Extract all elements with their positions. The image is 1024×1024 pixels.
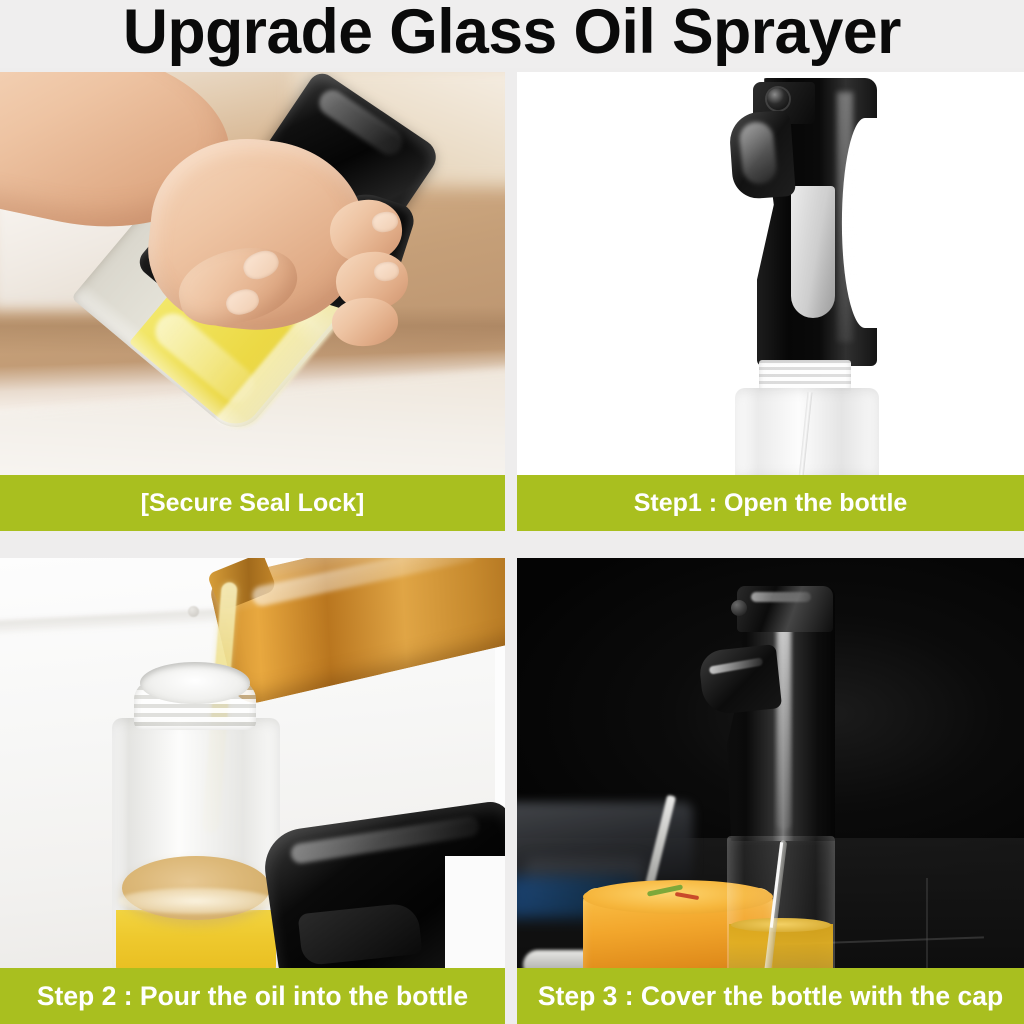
oil-surface <box>731 918 831 932</box>
caption-text: Step 2 : Pour the oil into the bottle <box>37 981 468 1012</box>
nozzle-ring <box>767 88 789 110</box>
caption-bar-step-1: Step1 : Open the bottle <box>517 475 1024 531</box>
caption-text: Step 3 : Cover the bottle with the cap <box>538 981 1003 1012</box>
caption-bar-step-2: Step 2 : Pour the oil into the bottle <box>0 968 505 1024</box>
panel-step-3: Step 3 : Cover the bottle with the cap <box>517 558 1024 1024</box>
sprayer-head-gloss <box>837 92 853 342</box>
page-title: Upgrade Glass Oil Sprayer <box>0 0 1024 68</box>
tile-grout-line <box>926 878 928 968</box>
caption-bar-secure-seal-lock: [Secure Seal Lock] <box>0 475 505 531</box>
bottle-mouth-opening <box>140 662 250 704</box>
photo-hand-holding-sprayer <box>0 72 505 475</box>
caption-text: Step1 : Open the bottle <box>634 489 908 518</box>
photo-corner-notch <box>445 856 505 968</box>
background-dot <box>188 606 199 617</box>
photo-open-the-bottle <box>517 72 1024 475</box>
trigger-lever <box>698 644 782 716</box>
caption-text: [Secure Seal Lock] <box>141 489 365 518</box>
photo-cover-with-cap <box>517 558 1024 968</box>
panel-step-2: Step 2 : Pour the oil into the bottle <box>0 558 505 1024</box>
oil-foam-edge <box>118 888 274 914</box>
caption-bar-step-3: Step 3 : Cover the bottle with the cap <box>517 968 1024 1024</box>
panel-step-1: Step1 : Open the bottle <box>517 72 1024 531</box>
sprayer-body-highlight <box>777 600 791 830</box>
sprayer-top-gloss <box>751 592 811 602</box>
photo-pour-the-oil <box>0 558 505 968</box>
sprayer-head-assembly <box>725 78 877 366</box>
product-infographic: Upgrade Glass Oil Sprayer <box>0 0 1024 1024</box>
sprayer-head-window <box>791 186 835 318</box>
nozzle-ring <box>731 600 747 616</box>
page-title-text: Upgrade Glass Oil Sprayer <box>123 0 901 64</box>
assembled-oil-sprayer <box>715 586 845 968</box>
panel-secure-seal-lock: [Secure Seal Lock] <box>0 72 505 531</box>
